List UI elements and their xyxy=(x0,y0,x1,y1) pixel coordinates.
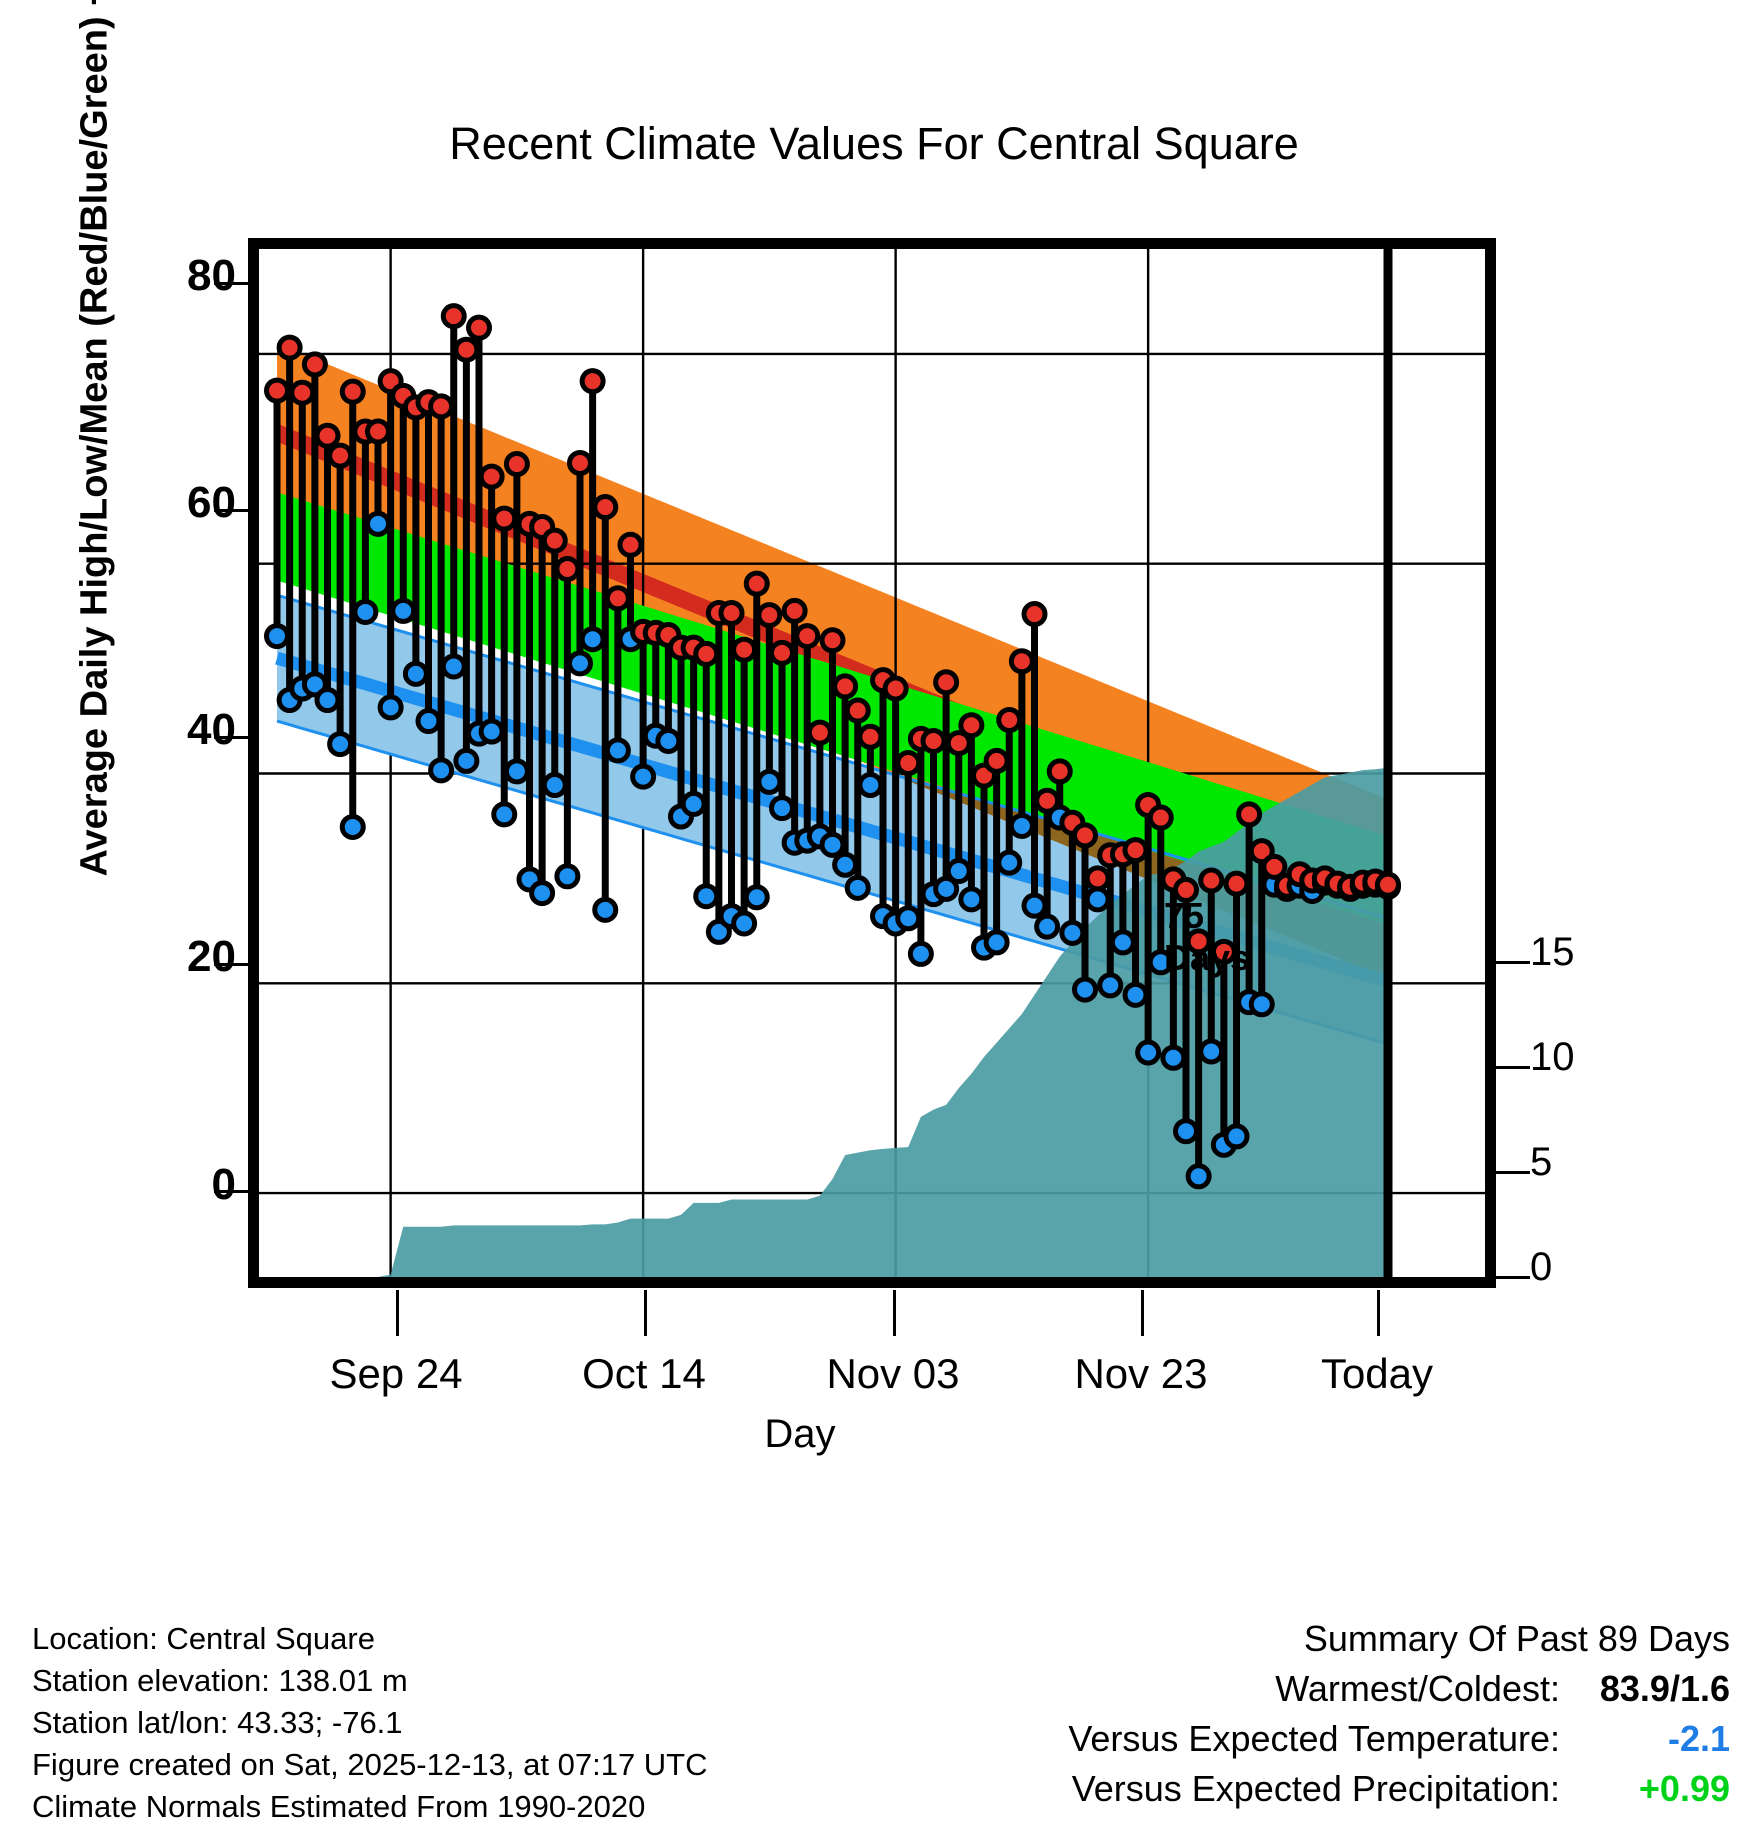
y-tickmark-left-60 xyxy=(214,509,248,512)
station-metadata: Location: Central Square Station elevati… xyxy=(32,1618,708,1828)
page-title: Recent Climate Values For Central Square xyxy=(0,118,1748,170)
summary-warmest-coldest-label: Warmest/Coldest: xyxy=(1275,1668,1560,1709)
summary-vs-temp-label: Versus Expected Temperature: xyxy=(1068,1718,1560,1759)
summary-warmest-coldest-value: 83.9/1.6 xyxy=(1570,1664,1730,1714)
y-tickmark-left-0 xyxy=(214,1190,248,1193)
y-tick-left-0: 0 xyxy=(56,1160,236,1210)
meta-created: Figure created on Sat, 2025-12-13, at 07… xyxy=(32,1744,708,1786)
summary-vs-precip-label: Versus Expected Precipitation: xyxy=(1072,1768,1560,1809)
x-tickmark-sep24 xyxy=(396,1290,399,1336)
summary-heading: Summary Of Past 89 Days xyxy=(1068,1614,1730,1664)
x-axis-label: Day xyxy=(600,1412,1000,1457)
x-tick-today: Today xyxy=(1227,1350,1527,1398)
x-tickmark-today xyxy=(1377,1290,1380,1336)
plot-area xyxy=(248,238,1496,1288)
meta-normals: Climate Normals Estimated From 1990-2020 xyxy=(32,1786,708,1828)
climate-plot-svg xyxy=(259,249,1485,1277)
x-tickmark-nov23 xyxy=(1141,1290,1144,1336)
climate-figure: Recent Climate Values For Central Square… xyxy=(0,0,1748,1828)
days-count: 75 xyxy=(1164,895,1250,937)
y-tick-left-20: 20 xyxy=(56,932,236,982)
y-tickmark-right-10 xyxy=(1496,1066,1530,1069)
summary-panel: Summary Of Past 89 Days Warmest/Coldest:… xyxy=(1068,1614,1730,1814)
x-tickmark-nov03 xyxy=(893,1290,896,1336)
y-tick-left-40: 40 xyxy=(56,705,236,755)
y-tick-left-60: 60 xyxy=(56,478,236,528)
meta-location: Location: Central Square xyxy=(32,1618,708,1660)
y-tickmark-right-5 xyxy=(1496,1171,1530,1174)
days-word: Days xyxy=(1164,937,1250,979)
x-tickmark-oct14 xyxy=(644,1290,647,1336)
plot-inner xyxy=(259,249,1485,1277)
y-axis-left-label: Average Daily High/Low/Mean (Red/Blue/Gr… xyxy=(74,77,117,877)
y-tickmark-right-0 xyxy=(1496,1276,1530,1279)
meta-elevation: Station elevation: 138.01 m xyxy=(32,1660,708,1702)
y-tick-right-10: 10 xyxy=(1530,1035,1650,1080)
y-tickmark-left-80 xyxy=(214,282,248,285)
y-tickmark-left-40 xyxy=(214,736,248,739)
summary-vs-temp-value: -2.1 xyxy=(1570,1714,1730,1764)
y-tickmark-right-15 xyxy=(1496,961,1530,964)
summary-warmest-coldest-row: Warmest/Coldest: 83.9/1.6 xyxy=(1068,1664,1730,1714)
y-tick-right-0: 0 xyxy=(1530,1245,1650,1290)
y-tick-left-80: 80 xyxy=(56,251,236,301)
summary-vs-precip-value: +0.99 xyxy=(1570,1764,1730,1814)
y-tick-right-5: 5 xyxy=(1530,1140,1650,1185)
summary-vs-precip-row: Versus Expected Precipitation: +0.99 xyxy=(1068,1764,1730,1814)
meta-latlon: Station lat/lon: 43.33; -76.1 xyxy=(32,1702,708,1744)
y-tick-right-15: 15 xyxy=(1530,930,1650,975)
y-tickmark-left-20 xyxy=(214,963,248,966)
summary-vs-temp-row: Versus Expected Temperature: -2.1 xyxy=(1068,1714,1730,1764)
days-annotation: 75 Days xyxy=(1164,895,1250,979)
